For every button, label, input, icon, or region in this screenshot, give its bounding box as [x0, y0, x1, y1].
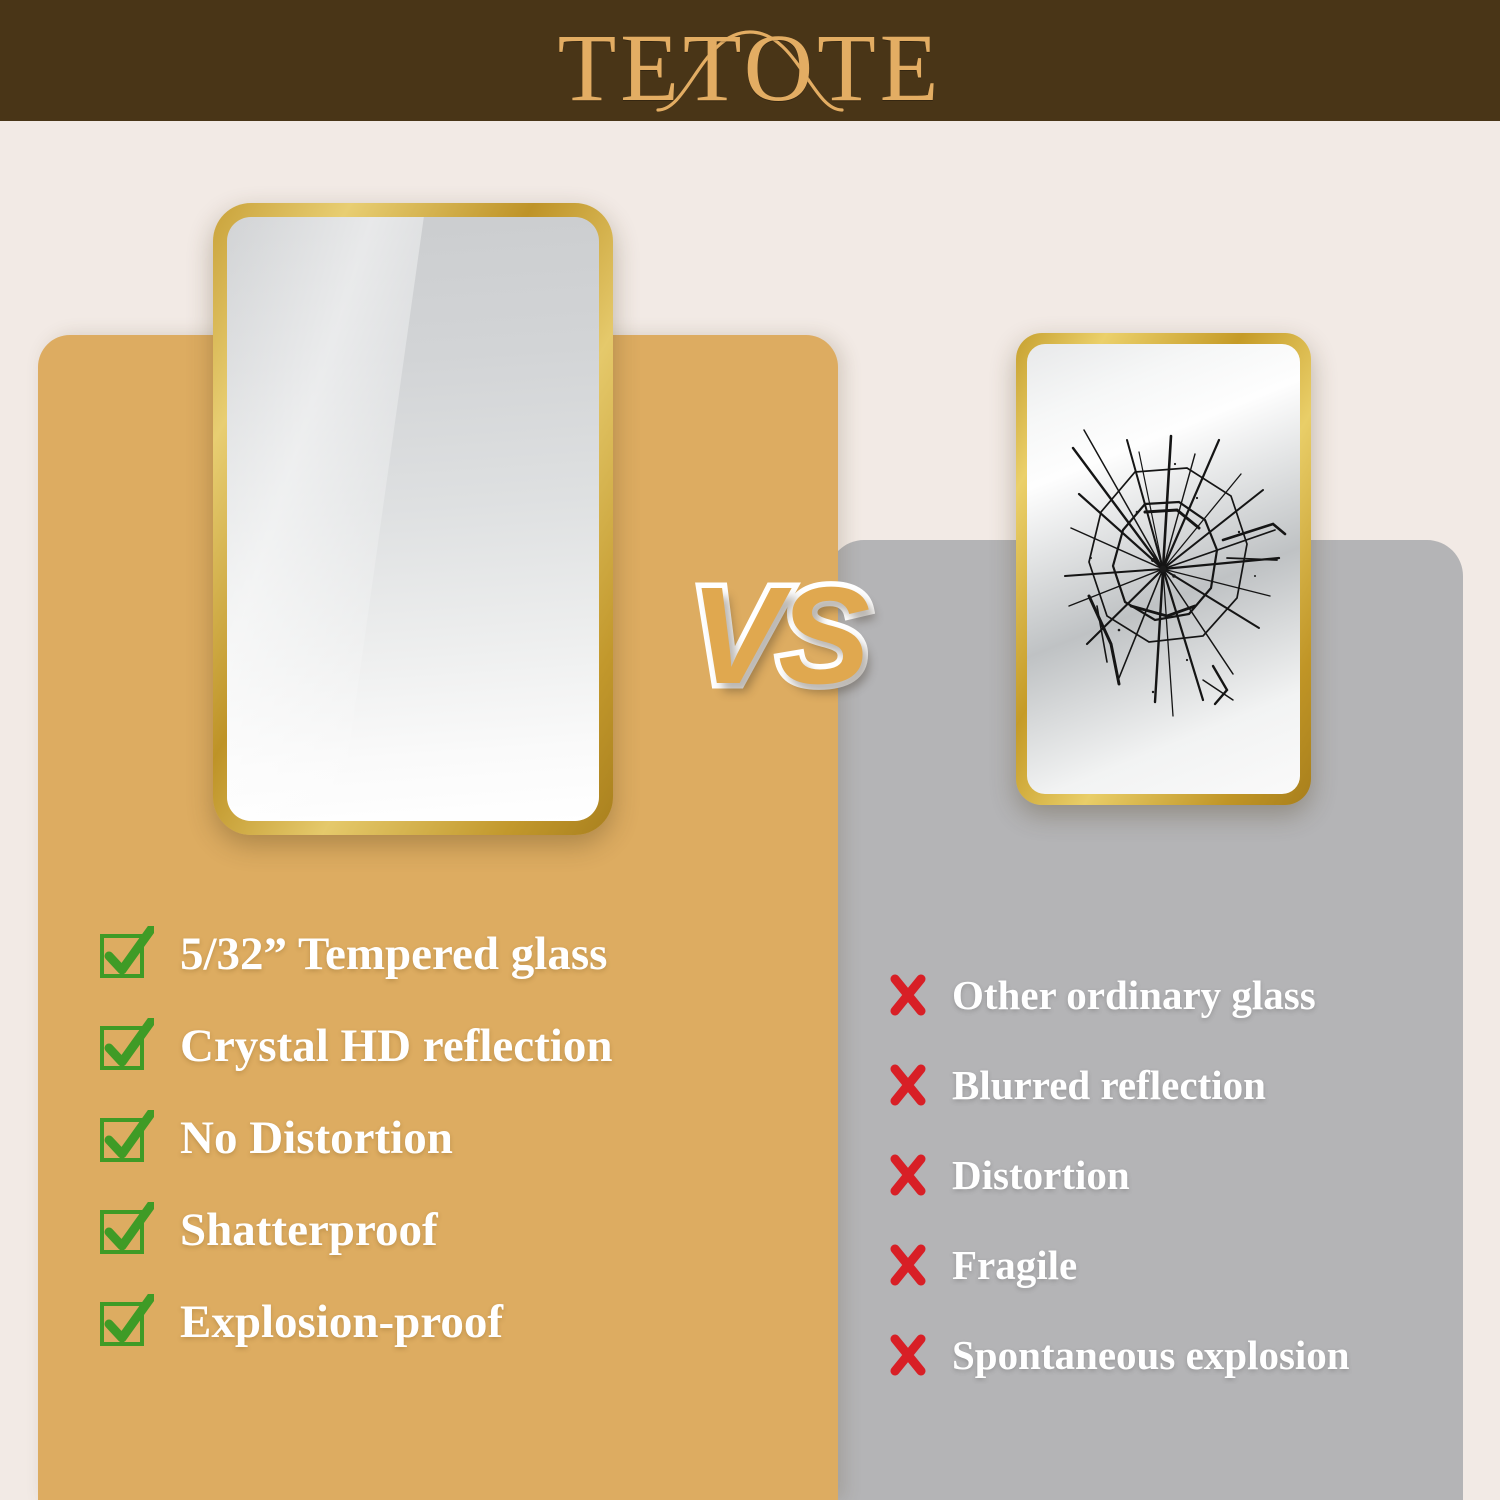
list-item: Spontaneous explosion [888, 1310, 1478, 1400]
cross-mark-icon [888, 1332, 928, 1378]
check-box-icon [98, 1110, 154, 1166]
pros-list: 5/32” Tempered glass Crystal HD reflecti… [98, 908, 798, 1368]
check-box-icon [98, 1018, 154, 1074]
infographic-canvas: TETOTE [0, 0, 1500, 1500]
cons-item-label: Fragile [952, 1245, 1077, 1286]
list-item: Explosion-proof [98, 1276, 798, 1368]
pros-item-label: 5/32” Tempered glass [180, 931, 607, 978]
brand-name: TETOTE [558, 20, 943, 116]
list-item: No Distortion [98, 1092, 798, 1184]
cross-mark-icon [888, 1152, 928, 1198]
product-mirror-intact [213, 203, 613, 835]
check-box-icon [98, 1202, 154, 1258]
cons-item-label: Distortion [952, 1155, 1130, 1196]
brand-logo-group: TETOTE [0, 0, 1500, 121]
pros-item-label: Crystal HD reflection [180, 1023, 612, 1070]
mirror-glass-broken [1027, 344, 1300, 794]
list-item: Crystal HD reflection [98, 1000, 798, 1092]
check-box-icon [98, 926, 154, 982]
mirror-glass-clear [227, 217, 599, 821]
list-item: Other ordinary glass [888, 950, 1478, 1040]
cons-item-label: Blurred reflection [952, 1065, 1266, 1106]
shatter-cracks-icon [1027, 344, 1300, 794]
list-item: 5/32” Tempered glass [98, 908, 798, 1000]
pros-item-label: Explosion-proof [180, 1299, 503, 1346]
cross-mark-icon [888, 1062, 928, 1108]
check-box-icon [98, 1294, 154, 1350]
list-item: Fragile [888, 1220, 1478, 1310]
pros-item-label: Shatterproof [180, 1207, 438, 1254]
cross-mark-icon [888, 1242, 928, 1288]
cons-item-label: Other ordinary glass [952, 975, 1316, 1016]
list-item: Blurred reflection [888, 1040, 1478, 1130]
cons-item-label: Spontaneous explosion [952, 1335, 1350, 1376]
cross-mark-icon [888, 972, 928, 1018]
cons-list: Other ordinary glass Blurred reflection … [888, 950, 1478, 1400]
list-item: Distortion [888, 1130, 1478, 1220]
pros-item-label: No Distortion [180, 1115, 453, 1162]
product-mirror-shattered [1016, 333, 1311, 805]
brand-header: TETOTE [0, 0, 1500, 121]
list-item: Shatterproof [98, 1184, 798, 1276]
vs-badge: VS [690, 567, 866, 705]
